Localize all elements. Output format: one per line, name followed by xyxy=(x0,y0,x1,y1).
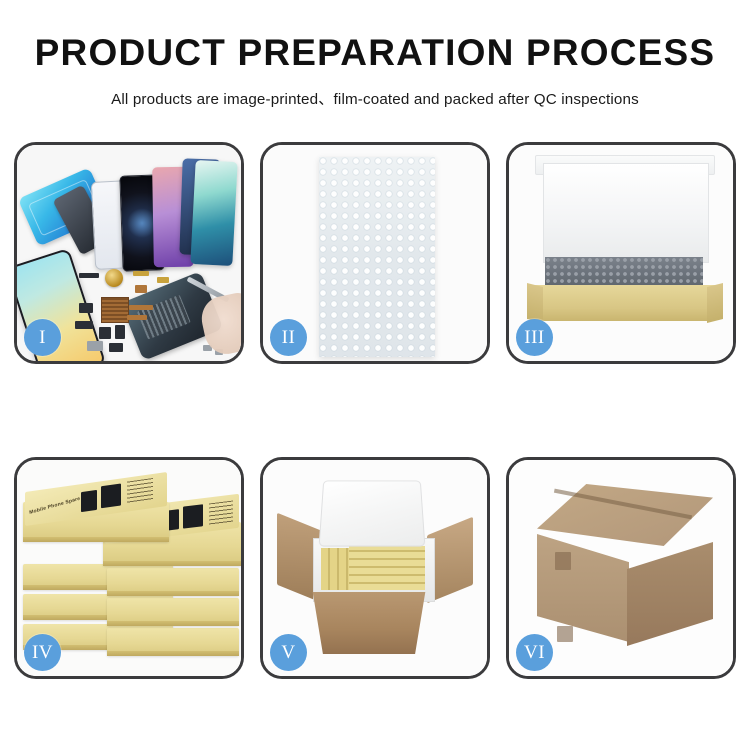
component-chip xyxy=(87,341,103,351)
carton-hand-hole xyxy=(555,552,571,570)
carton-hand-hole xyxy=(557,626,573,642)
kraft-tray-box-image xyxy=(533,285,717,321)
box-spec-text-lines xyxy=(127,478,153,504)
step-badge-1: I xyxy=(24,319,61,356)
teal-phone-image xyxy=(190,160,237,266)
page-header: PRODUCT PREPARATION PROCESS All products… xyxy=(0,0,750,109)
component-chip xyxy=(157,277,169,283)
retail-box xyxy=(107,628,239,656)
step-badge-3: III xyxy=(516,319,553,356)
process-step-grid: I II III xyxy=(14,142,736,679)
process-step-panel-5: V xyxy=(260,457,490,679)
step-badge-5: V xyxy=(270,634,307,671)
box-product-thumbnail xyxy=(81,490,97,512)
component-chip xyxy=(79,273,99,278)
copper-shield-chip-image xyxy=(101,297,129,323)
page-title: PRODUCT PREPARATION PROCESS xyxy=(0,34,750,71)
component-chip xyxy=(79,303,93,313)
component-chip xyxy=(135,285,147,293)
retail-box xyxy=(107,598,239,626)
step-image-2: II xyxy=(263,145,487,361)
process-step-panel-3: III xyxy=(506,142,736,364)
process-step-panel-6: VI xyxy=(506,457,736,679)
box-product-thumbnail xyxy=(183,504,203,528)
process-step-panel-4: Mobile Phone Spare Parts Mobile Phone Sp… xyxy=(14,457,244,679)
component-chip xyxy=(133,271,149,276)
step-badge-4: IV xyxy=(24,634,61,671)
component-chip xyxy=(129,305,153,310)
component-chip xyxy=(109,343,123,352)
box-product-thumbnail xyxy=(101,483,121,508)
bubble-wrap-bag-image xyxy=(319,157,435,357)
step-image-3: III xyxy=(509,145,733,361)
step-badge-6: VI xyxy=(516,634,553,671)
carton-body-image xyxy=(305,592,433,654)
component-chip xyxy=(75,321,93,329)
component-chip xyxy=(127,315,147,320)
vibration-motor-icon xyxy=(105,269,123,287)
carton-front-face xyxy=(537,534,629,642)
step-badge-2: II xyxy=(270,319,307,356)
yellow-boxes-row xyxy=(349,546,425,590)
carton-side-face xyxy=(627,542,713,646)
step-image-1: I xyxy=(17,145,241,361)
process-step-panel-2: II xyxy=(260,142,490,364)
step-image-6: VI xyxy=(509,460,733,676)
box-spec-text-lines xyxy=(209,501,233,526)
process-step-panel-1: I xyxy=(14,142,244,364)
step-image-5: V xyxy=(263,460,487,676)
white-foam-sheet-image xyxy=(543,163,709,263)
page-subtitle: All products are image-printed、film-coat… xyxy=(0,87,750,109)
component-chip xyxy=(99,327,111,339)
retail-box xyxy=(107,568,239,596)
component-chip xyxy=(115,325,125,339)
step-image-4: Mobile Phone Spare Parts Mobile Phone Sp… xyxy=(17,460,241,676)
styrofoam-lid-image xyxy=(319,480,426,546)
